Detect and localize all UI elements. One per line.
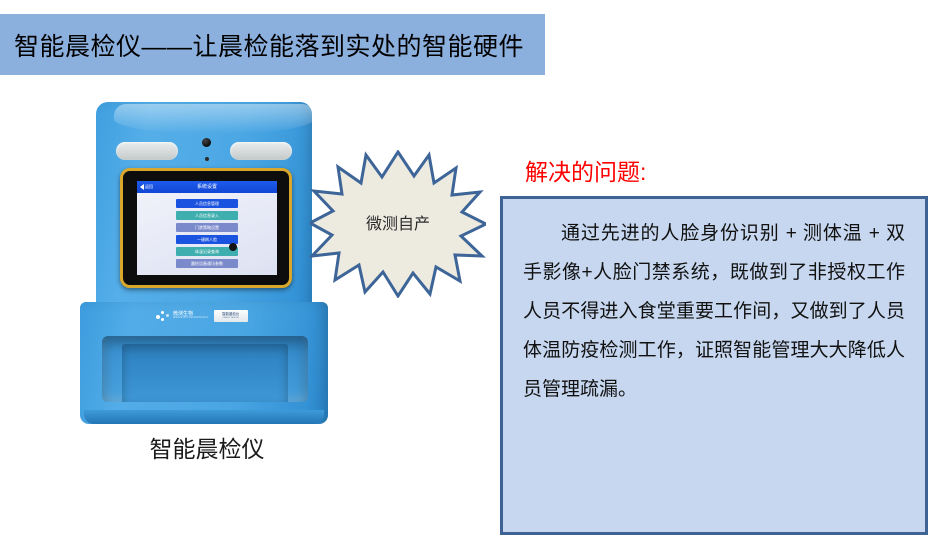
camera-lens-icon xyxy=(202,138,211,147)
screen-back-button[interactable]: 返回 xyxy=(140,184,153,190)
screen-menu-item-label: 人员信息管理 xyxy=(195,202,219,206)
slide-title-banner: 智能晨检仪——让晨检能落到实处的智能硬件 xyxy=(0,14,545,75)
screen-menu-item-3[interactable]: 门禁策略设置 xyxy=(176,223,238,232)
hand-scan-slot-left xyxy=(116,142,178,160)
problem-heading: 解决的问题: xyxy=(525,153,646,187)
device-upper-console: 返回 系统设置 人员信息管理 人员信息录入 门禁策略设置 xyxy=(96,102,312,316)
starburst-callout: 微测自产 xyxy=(310,150,486,298)
screen-title: 系统设置 xyxy=(137,181,277,193)
screen-menu-item-4[interactable]: 一键刷人脸 xyxy=(176,235,238,244)
tablet-screen: 返回 系统设置 人员信息管理 人员信息录入 门禁策略设置 xyxy=(137,181,277,275)
device-logo-strip: 微测生物 WEICE BIOTECHNOLOGY 智能晨检仪 CHECK DEV… xyxy=(156,308,266,324)
screen-back-label: 返回 xyxy=(145,185,153,189)
screen-menu-item-label: 晨检设备通讯参数 xyxy=(191,262,223,266)
brand-name-en: WEICE BIOTECHNOLOGY xyxy=(173,317,209,320)
screen-menu-list: 人员信息管理 人员信息录入 门禁策略设置 一键刷人脸 体温记录查询 xyxy=(137,193,277,268)
screen-menu-item-label: 一键刷人脸 xyxy=(197,238,217,242)
device-top-highlight xyxy=(114,104,314,134)
device-illustration: 返回 系统设置 人员信息管理 人员信息录入 门禁策略设置 xyxy=(72,100,342,480)
ir-sensor-icon xyxy=(229,243,237,251)
screen-menu-item-6[interactable]: 晨检设备通讯参数 xyxy=(176,259,238,268)
starburst-label: 微测自产 xyxy=(310,210,486,234)
brand-logo-icon: 微测生物 WEICE BIOTECHNOLOGY xyxy=(156,311,209,322)
screen-menu-item-1[interactable]: 人员信息管理 xyxy=(176,199,238,208)
device-alcove-interior xyxy=(122,344,288,402)
screen-menu-item-label: 门禁策略设置 xyxy=(195,226,219,230)
tablet-bezel: 返回 系统设置 人员信息管理 人员信息录入 门禁策略设置 xyxy=(120,168,292,288)
chevron-left-icon xyxy=(140,184,144,190)
screen-menu-item-label: 体温记录查询 xyxy=(195,250,219,254)
device-lower-cabinet: 微测生物 WEICE BIOTECHNOLOGY 智能晨检仪 CHECK DEV… xyxy=(80,302,328,424)
brand-text: 微测生物 WEICE BIOTECHNOLOGY xyxy=(173,312,209,320)
sensor-dot-icon xyxy=(205,157,209,161)
screen-menu-item-label: 人员信息录入 xyxy=(195,214,219,218)
screen-menu-item-2[interactable]: 人员信息录入 xyxy=(176,211,238,220)
hand-scan-slot-right xyxy=(230,142,292,160)
molecule-icon xyxy=(156,311,171,322)
cert-label-line2: CHECK DEVICE xyxy=(222,317,238,319)
problem-description-box: 通过先进的人脸身份识别 + 测体温 + 双手影像+人脸门禁系统，既做到了非授权工… xyxy=(500,196,928,535)
screen-titlebar: 返回 系统设置 xyxy=(137,181,277,193)
device-body: 返回 系统设置 人员信息管理 人员信息录入 门禁策略设置 xyxy=(80,102,328,420)
page-title: 智能晨检仪——让晨检能落到实处的智能硬件 xyxy=(0,27,524,63)
device-cert-label: 智能晨检仪 CHECK DEVICE xyxy=(214,310,248,322)
device-caption: 智能晨检仪 xyxy=(72,430,342,464)
device-hand-alcove xyxy=(102,336,308,402)
problem-description-text: 通过先进的人脸身份识别 + 测体温 + 双手影像+人脸门禁系统，既做到了非授权工… xyxy=(523,215,905,410)
device-base xyxy=(84,410,324,424)
